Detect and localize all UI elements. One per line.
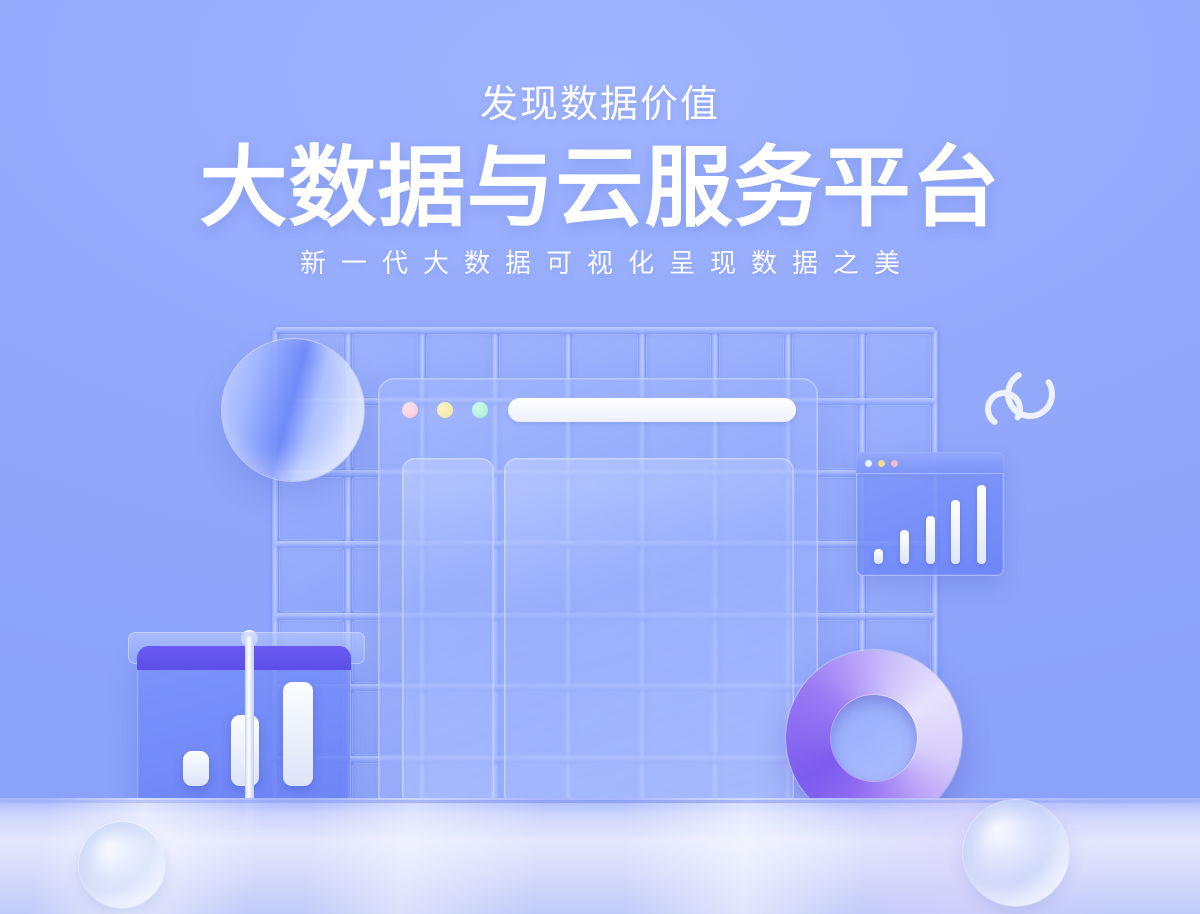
hero-copy: 发现数据价值 大数据与云服务平台 新一代大数据可视化呈现数据之美 <box>0 86 1200 276</box>
chart-bar <box>926 516 935 564</box>
subtitle-text: 新一代大数据可视化呈现数据之美 <box>0 250 1200 276</box>
chart-bar <box>183 751 209 786</box>
grid-cell <box>866 334 931 397</box>
chart-bar <box>283 682 313 786</box>
close-dot[interactable] <box>865 460 872 467</box>
chart-bar <box>951 500 960 564</box>
bar-chart-panel <box>137 646 351 812</box>
grid-row-line <box>275 327 935 334</box>
chart-bar <box>874 549 883 564</box>
maximize-dot[interactable] <box>472 402 488 418</box>
mini-chart-window <box>856 452 1004 576</box>
eyebrow-text: 发现数据价值 <box>0 86 1200 124</box>
page-title: 大数据与云服务平台 <box>0 144 1200 232</box>
minimize-dot[interactable] <box>437 402 453 418</box>
minimize-dot[interactable] <box>878 460 885 467</box>
content-pane <box>504 458 794 806</box>
sidebar-pane <box>402 458 494 806</box>
cloud-outline-icon <box>978 366 1062 436</box>
grid-cell <box>279 477 344 540</box>
hero-banner: 发现数据价值 大数据与云服务平台 新一代大数据可视化呈现数据之美 <box>0 0 1200 914</box>
chart-bar <box>977 485 986 564</box>
glass-bubble-right <box>963 800 1069 906</box>
address-bar-input[interactable] <box>508 398 796 422</box>
glass-bubble-left <box>79 822 165 908</box>
browser-window-mockup <box>378 378 818 830</box>
panel-header-bar <box>137 646 351 670</box>
close-dot[interactable] <box>402 402 418 418</box>
maximize-dot[interactable] <box>891 460 898 467</box>
glass-sphere <box>222 339 364 481</box>
mini-chart-title-bar <box>856 452 1004 474</box>
grid-cell <box>279 548 344 611</box>
chart-bar <box>900 530 909 564</box>
browser-title-bar <box>378 378 818 440</box>
